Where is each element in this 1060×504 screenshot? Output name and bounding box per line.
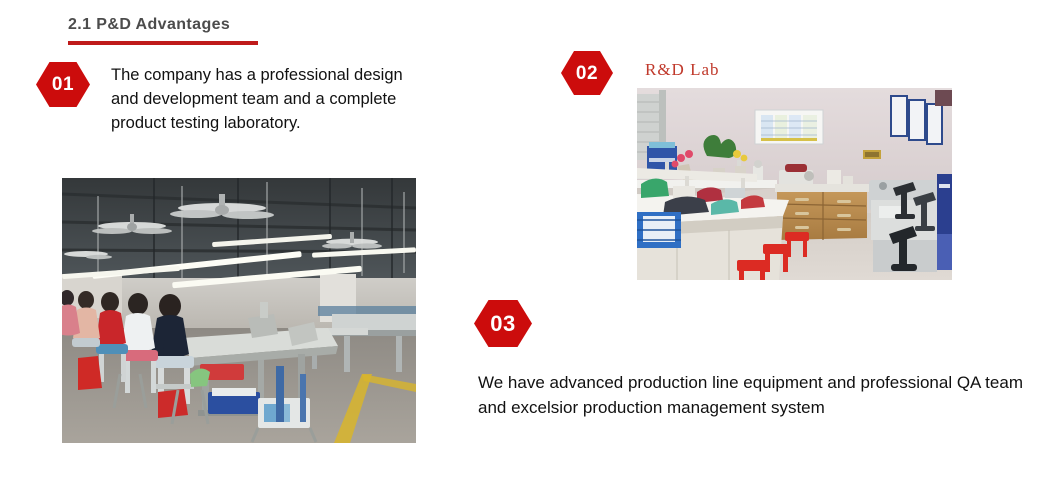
badge-03-label: 03: [490, 313, 515, 335]
slide-root: 2.1 P&D Advantages 01 The company has a …: [0, 0, 1060, 504]
badge-01: 01: [36, 62, 90, 107]
item-01-text: The company has a professional design an…: [111, 63, 431, 135]
factory-photo-illustration: [62, 178, 416, 443]
badge-02: 02: [561, 51, 613, 95]
rd-lab-photo: [637, 88, 952, 280]
badge-02-label: 02: [576, 64, 598, 83]
badge-03: 03: [474, 300, 532, 347]
rd-lab-label: R&D Lab: [645, 60, 720, 80]
badge-01-label: 01: [52, 75, 74, 94]
lab-photo-illustration: [637, 88, 952, 280]
page-title: 2.1 P&D Advantages: [68, 16, 230, 34]
title-underline-rule: [68, 41, 258, 45]
item-03-text: We have advanced production line equipme…: [478, 370, 1023, 420]
factory-sewing-floor-photo: [62, 178, 416, 443]
